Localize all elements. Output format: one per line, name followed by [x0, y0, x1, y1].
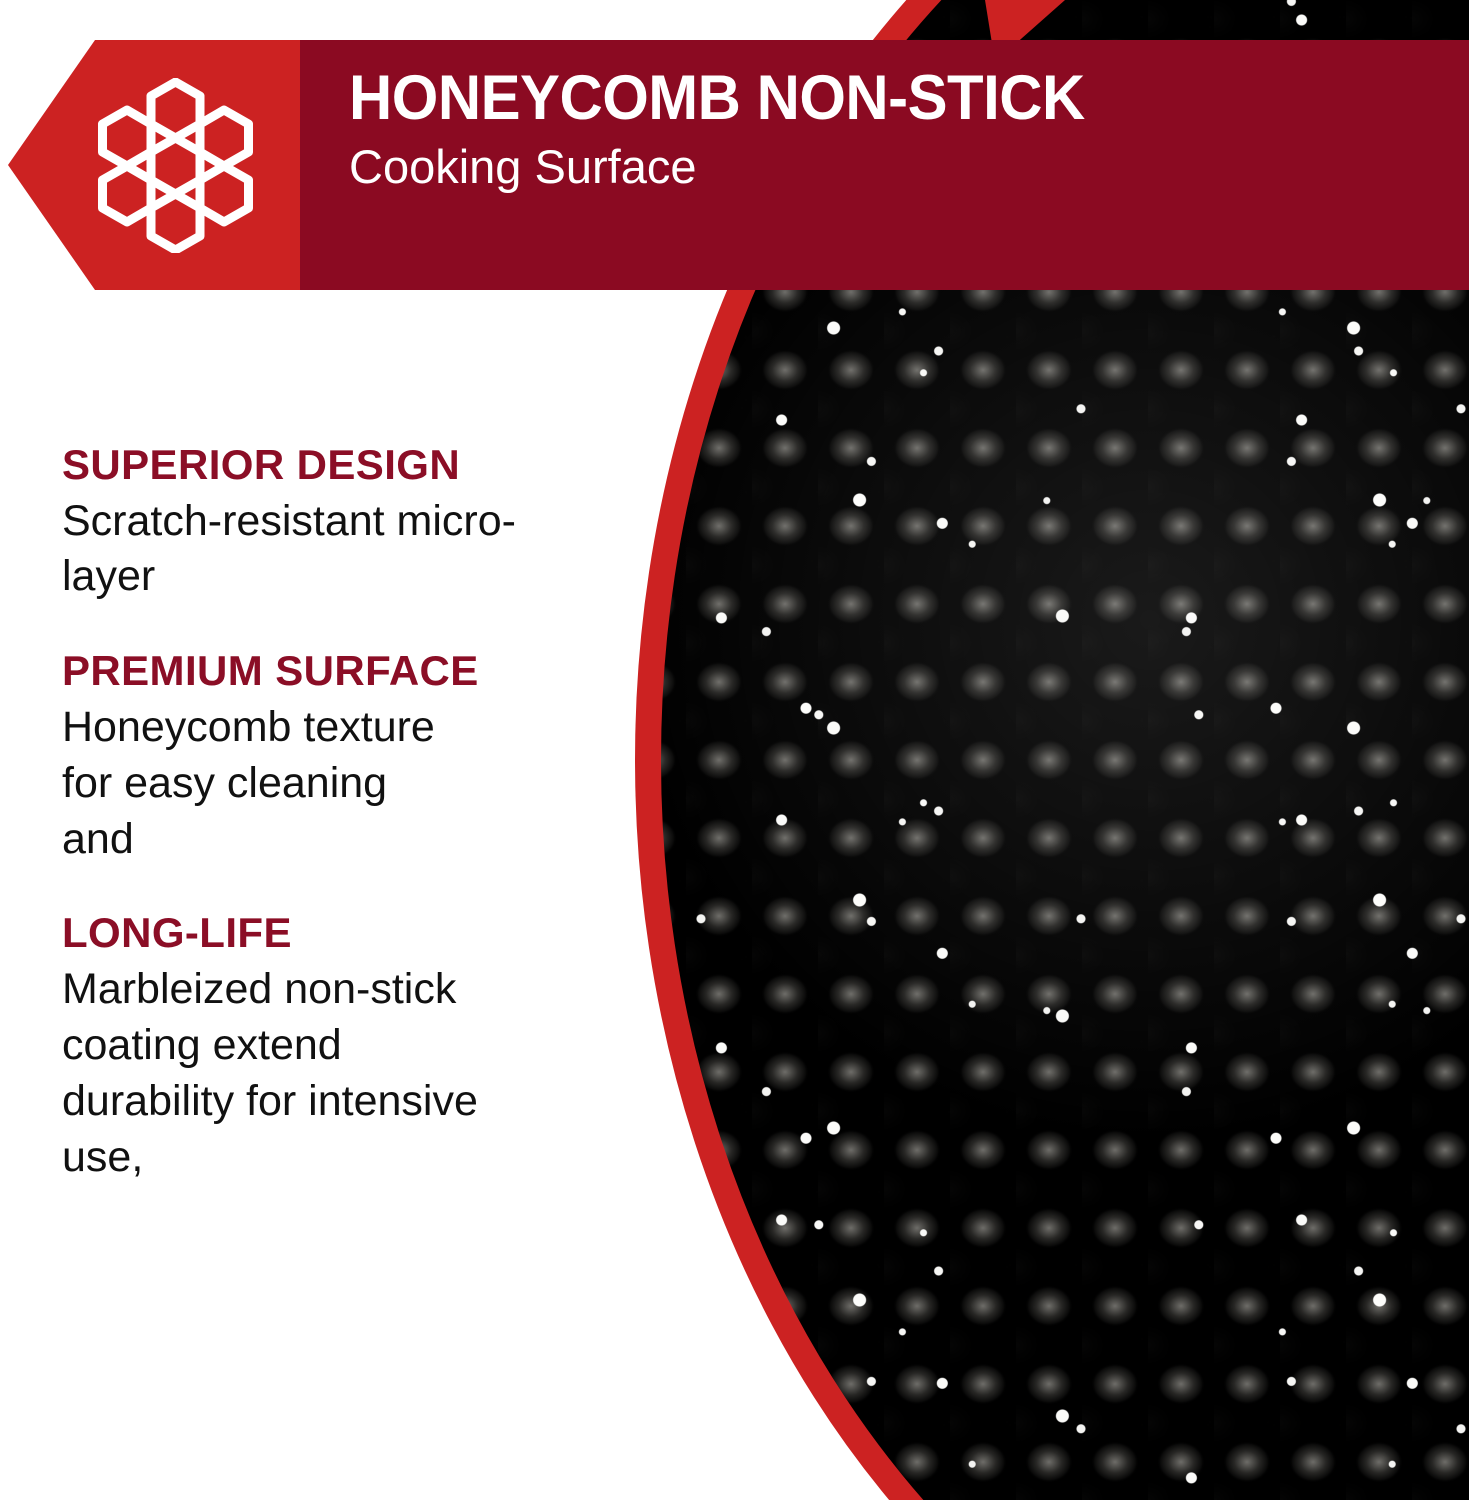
infographic-canvas: HONEYCOMB NON-STICK Cooking Surface SUPE… [0, 0, 1469, 1500]
feature-item: SUPERIOR DESIGN Scratch-resistant micro-… [62, 443, 562, 605]
banner-title: HONEYCOMB NON-STICK [349, 66, 1385, 130]
feature-heading: LONG-LIFE [62, 911, 562, 956]
feature-item: LONG-LIFE Marbleized non-stick coating e… [62, 911, 562, 1185]
feature-body: Marbleized non-stick coating extend dura… [62, 962, 522, 1186]
feature-item: PREMIUM SURFACE Honeycomb texture for ea… [62, 649, 562, 867]
header-banner: HONEYCOMB NON-STICK Cooking Surface [0, 40, 1469, 290]
feature-body: Honeycomb texture for easy cleaning and [62, 700, 462, 868]
banner-subtitle: Cooking Surface [349, 142, 1439, 193]
honeycomb-hexagon-icon [88, 78, 263, 253]
banner-text-block: HONEYCOMB NON-STICK Cooking Surface [349, 66, 1439, 193]
feature-heading: PREMIUM SURFACE [62, 649, 562, 694]
feature-heading: SUPERIOR DESIGN [62, 443, 562, 488]
feature-list: SUPERIOR DESIGN Scratch-resistant micro-… [62, 443, 562, 1186]
feature-body: Scratch-resistant micro-layer [62, 494, 532, 606]
